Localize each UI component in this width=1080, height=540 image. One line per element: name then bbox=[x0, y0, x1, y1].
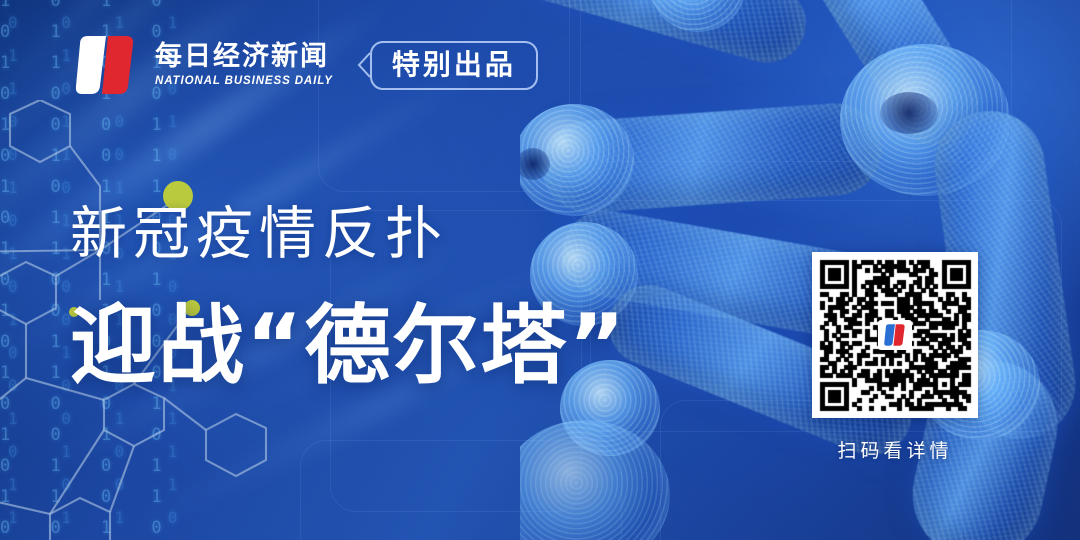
qr-code[interactable] bbox=[812, 252, 978, 418]
logo-chinese-name: 每日经济新闻 bbox=[155, 43, 333, 71]
decor-card-outline bbox=[580, 0, 1012, 162]
headline-block: 新冠疫情反扑 迎战“德尔塔” bbox=[70, 206, 627, 389]
qr-caption: 扫码看详情 bbox=[812, 436, 978, 463]
badge-label: 特别出品 bbox=[370, 41, 538, 90]
qr-block[interactable]: 扫码看详情 bbox=[812, 252, 978, 463]
logo-wordmark: 每日经济新闻 NATIONAL BUSINESS DAILY bbox=[155, 43, 333, 86]
banner-subtitle: 新冠疫情反扑 bbox=[70, 206, 627, 263]
badge-tail-icon bbox=[357, 52, 371, 78]
qr-center-logo bbox=[878, 320, 912, 350]
nbd-logo[interactable]: 每日经济新闻 NATIONAL BUSINESS DAILY bbox=[70, 34, 333, 96]
nbd-m-logo-icon bbox=[70, 34, 142, 96]
binary-line: 0 0 1 1 0 bbox=[8, 13, 184, 32]
banner-header: 每日经济新闻 NATIONAL BUSINESS DAILY 特别出品 bbox=[70, 34, 538, 96]
banner-title: 迎战“德尔塔” bbox=[70, 303, 627, 389]
special-edition-badge[interactable]: 特别出品 bbox=[357, 41, 538, 90]
qr-nbd-logo-icon bbox=[882, 323, 908, 347]
logo-english-name: NATIONAL BUSINESS DAILY bbox=[155, 75, 333, 87]
decor-card-outline bbox=[318, 0, 570, 192]
news-banner: 1 0 1 0 1 0 1 1 0 0 1 1 0 1 0 0 0 1 0 1 … bbox=[0, 0, 1080, 540]
decor-card-outline bbox=[300, 440, 622, 540]
